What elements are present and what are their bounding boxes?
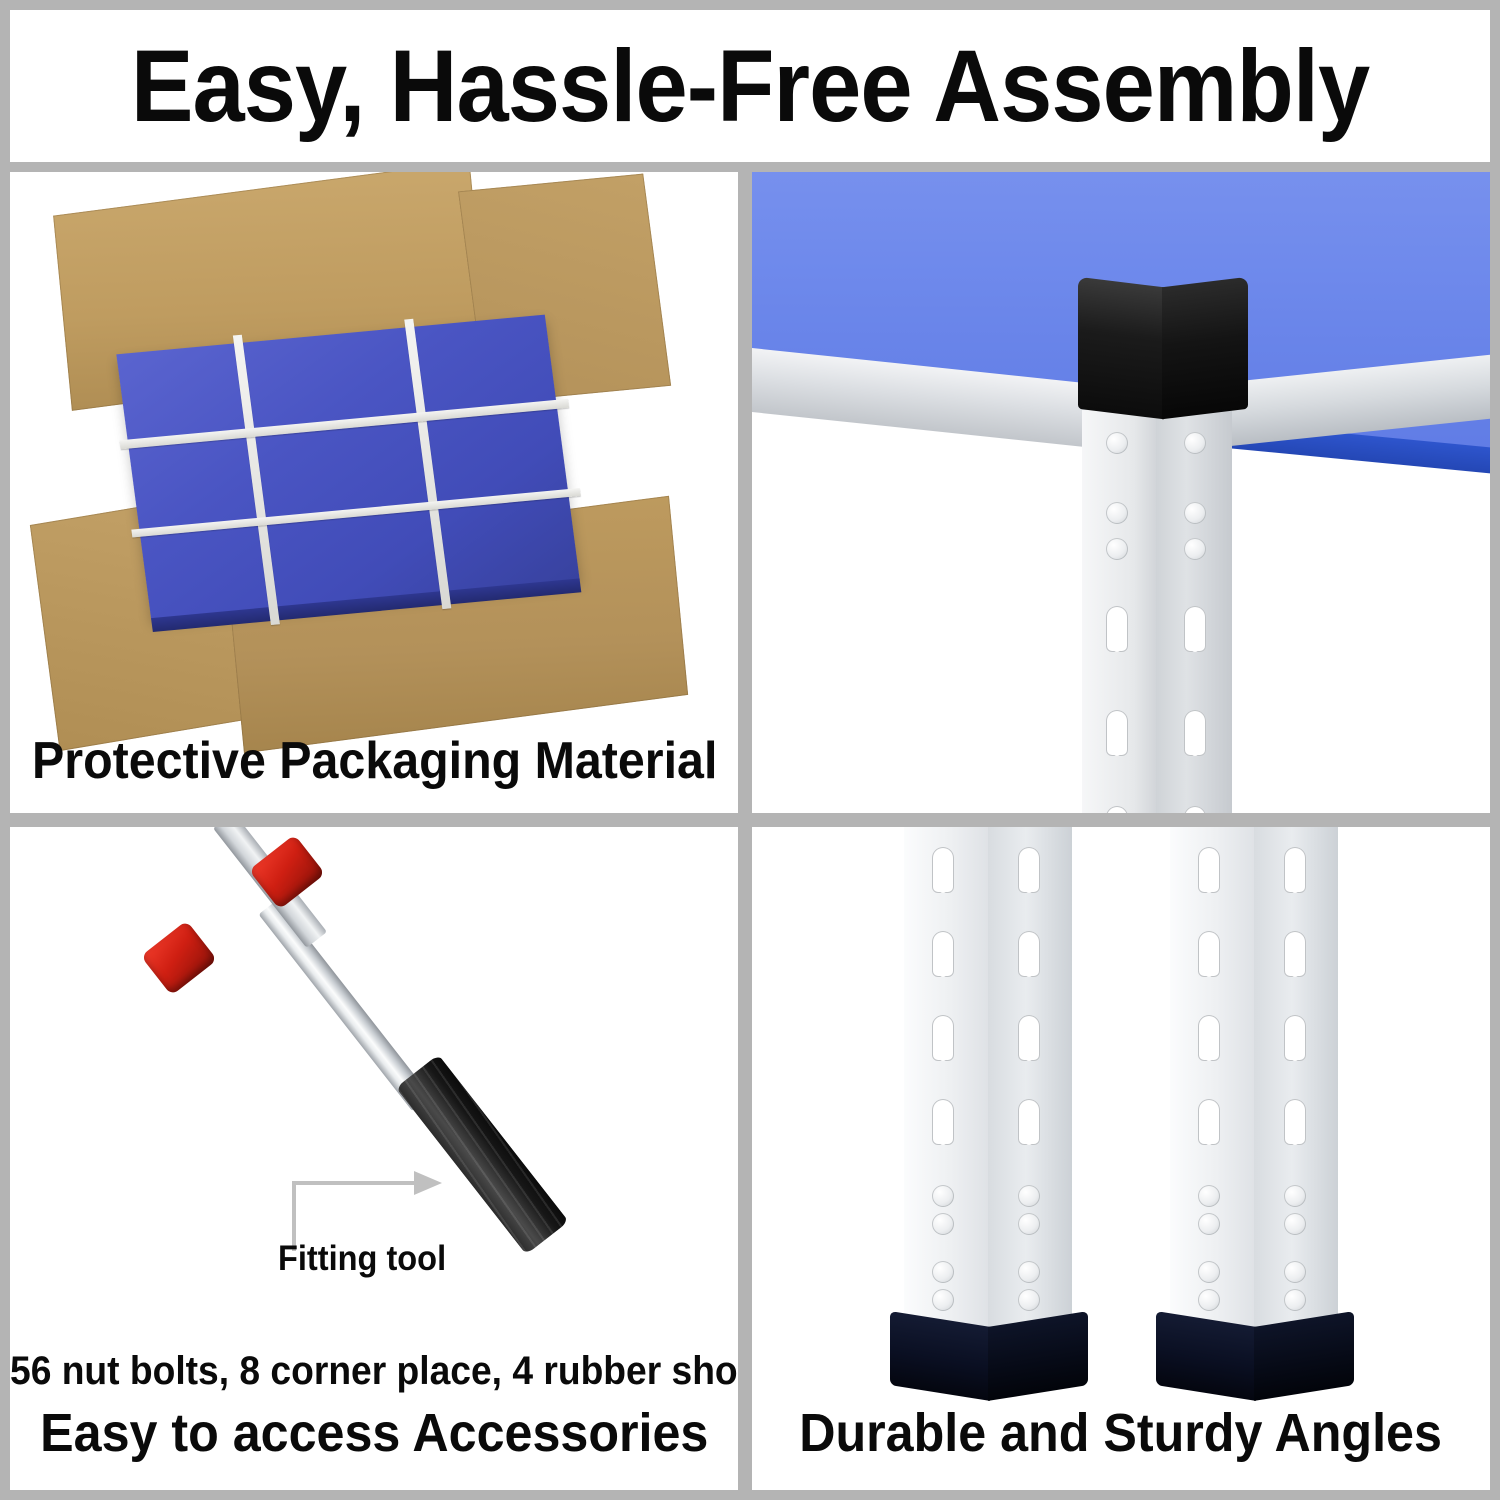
panel-accessories: Fitting tool 56 nut bolts, 8 corner plac…: [10, 827, 738, 1490]
header-panel: Easy, Hassle-Free Assembly: [10, 10, 1490, 162]
panel-sturdy-angles: Durable and Sturdy Angles: [752, 827, 1490, 1490]
post-keyhole-slot: [1106, 806, 1128, 813]
caption-text: 56 nut bolts, 8 corner place, 4 rubber s…: [10, 1349, 738, 1394]
fitting-mallet: [128, 855, 598, 1285]
leg-keyhole-slot: [1018, 1099, 1040, 1145]
leg-face-left: [1170, 827, 1254, 1341]
shoe-face-left: [890, 1311, 990, 1401]
caption-accessories-list: 56 nut bolts, 8 corner place, 4 rubber s…: [10, 1349, 738, 1394]
leg-keyhole-slot: [932, 847, 954, 893]
post-keyhole-slot: [1106, 606, 1128, 652]
leg-keyhole-slot: [1198, 1015, 1220, 1061]
leg-keyhole-slot: [1284, 847, 1306, 893]
infographic-page: Easy, Hassle-Free Assembly Protective Pa…: [0, 0, 1500, 1500]
leg-keyhole-slot: [932, 931, 954, 977]
leg-keyhole-slot: [1198, 931, 1220, 977]
leg-dimple: [1198, 1261, 1220, 1283]
angle-legs-photo: [752, 827, 1490, 1490]
leg-keyhole-slot: [932, 1015, 954, 1061]
post-keyhole-slot: [1184, 606, 1206, 652]
leg-face-left: [904, 827, 988, 1341]
page-title-text: Easy, Hassle-Free Assembly: [131, 35, 1369, 137]
angle-leg: [904, 827, 1072, 1369]
post-keyhole-slot: [1106, 710, 1128, 756]
post-dimple: [1184, 502, 1206, 524]
post-dimple: [1106, 432, 1128, 454]
panel-shelf-corner: [752, 172, 1490, 813]
leg-dimple: [1284, 1289, 1306, 1311]
packing-strap-vertical: [233, 334, 280, 624]
post-dimple: [1106, 502, 1128, 524]
leg-dimple: [932, 1185, 954, 1207]
caption-text: Protective Packaging Material: [32, 731, 717, 791]
annotation-text: Fitting tool: [278, 1239, 446, 1279]
caption-protective-packaging: Protective Packaging Material: [32, 731, 738, 791]
leg-dimple: [1198, 1289, 1220, 1311]
carton-group: [36, 199, 712, 746]
leg-dimple: [1018, 1261, 1040, 1283]
angle-leg: [1170, 827, 1338, 1369]
packing-strap-horizontal: [120, 398, 570, 449]
leg-face-right: [988, 827, 1072, 1341]
leg-dimple: [1284, 1213, 1306, 1235]
black-corner-cap: [1078, 282, 1246, 414]
leg-face-right: [1254, 827, 1338, 1341]
post-dimple: [1184, 538, 1206, 560]
shelf-corner-photo: [752, 172, 1490, 813]
leg-keyhole-slot: [1198, 847, 1220, 893]
leg-dimple: [1198, 1185, 1220, 1207]
leg-keyhole-slot: [1284, 1099, 1306, 1145]
leg-keyhole-slot: [1018, 1015, 1040, 1061]
post-keyhole-slot: [1184, 710, 1206, 756]
caption-easy-access-accessories: Easy to access Accessories: [10, 1402, 738, 1464]
post-dimple: [1184, 432, 1206, 454]
shoe-face-left: [1156, 1311, 1256, 1401]
leg-dimple: [1284, 1185, 1306, 1207]
carton-photo: [10, 172, 738, 813]
packing-strap-horizontal: [131, 487, 580, 537]
mallet-head-face-red: [141, 920, 217, 995]
leg-dimple: [1018, 1289, 1040, 1311]
post-keyhole-slot: [1184, 806, 1206, 813]
leg-keyhole-slot: [1198, 1099, 1220, 1145]
caption-text: Durable and Sturdy Angles: [800, 1402, 1443, 1464]
leg-dimple: [1018, 1213, 1040, 1235]
shoe-face-right: [1254, 1311, 1354, 1401]
leg-keyhole-slot: [932, 1099, 954, 1145]
rubber-shoe-cap: [1156, 1319, 1352, 1393]
post-face-left: [1082, 410, 1156, 813]
mallet-grip: [396, 1054, 569, 1254]
leg-dimple: [932, 1261, 954, 1283]
shoe-face-right: [988, 1311, 1088, 1401]
caption-text: Easy to access Accessories: [40, 1402, 708, 1464]
rubber-shoe-cap: [890, 1319, 1086, 1393]
panel-protective-packaging: Protective Packaging Material: [10, 172, 738, 813]
leg-keyhole-slot: [1018, 931, 1040, 977]
post-face-right: [1156, 410, 1232, 813]
leg-dimple: [1284, 1261, 1306, 1283]
angle-post: [1082, 410, 1232, 813]
leg-dimple: [932, 1213, 954, 1235]
caption-durable-sturdy-angles: Durable and Sturdy Angles: [752, 1402, 1490, 1464]
blue-shelf-board-stack: [116, 314, 579, 619]
leg-dimple: [1018, 1185, 1040, 1207]
leg-keyhole-slot: [1284, 931, 1306, 977]
page-title: Easy, Hassle-Free Assembly: [10, 35, 1490, 137]
corner-cap-face-left: [1078, 277, 1164, 420]
leg-keyhole-slot: [1284, 1015, 1306, 1061]
leg-keyhole-slot: [1018, 847, 1040, 893]
leg-dimple: [1198, 1213, 1220, 1235]
post-dimple: [1106, 538, 1128, 560]
annotation-fitting-tool: Fitting tool: [278, 1239, 459, 1279]
leg-dimple: [932, 1289, 954, 1311]
packing-strap-vertical: [404, 318, 451, 608]
corner-cap-face-right: [1162, 277, 1248, 420]
